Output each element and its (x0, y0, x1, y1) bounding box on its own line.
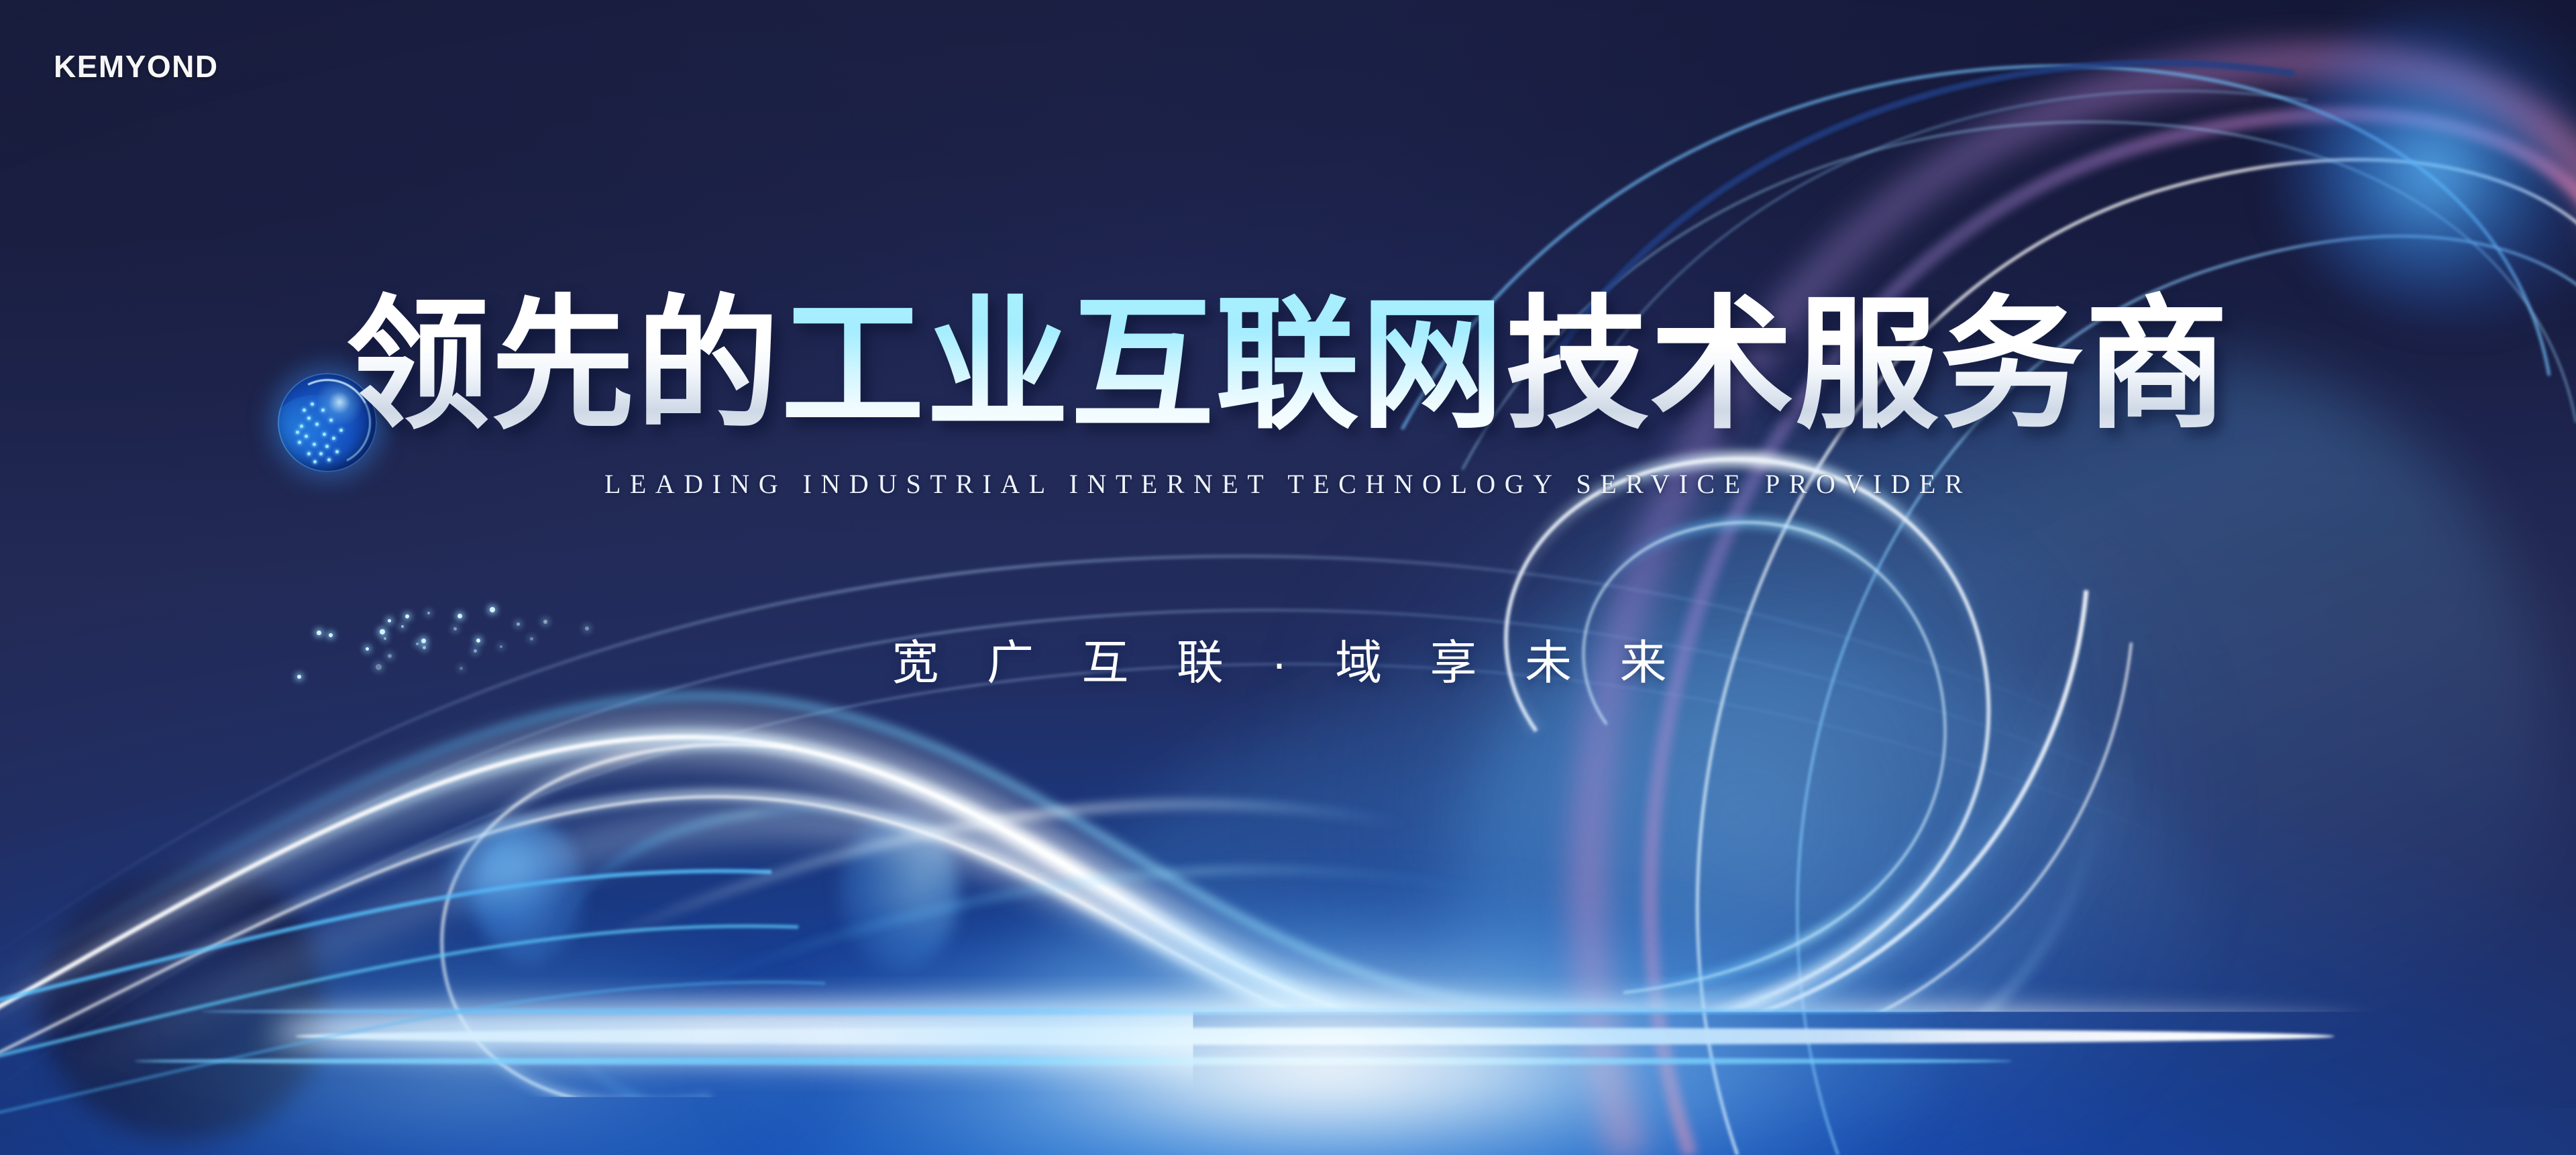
decor-light-ribbons (0, 0, 2576, 1155)
tagline: 宽 广 互 联 · 域 享 未 来 (0, 625, 2576, 693)
headline-segment-trailing: 技术服务商 (1505, 285, 2230, 445)
headline-segment-leading: 领先的 (346, 285, 781, 445)
subtitle-english: LEADING INDUSTRIAL INTERNET TECHNOLOGY S… (0, 468, 2576, 500)
headline-segment-highlight: 工业互联网 (781, 285, 1505, 445)
page-title: 领先的工业互联网技术服务商 (0, 294, 2576, 437)
promo-banner: KEMYOND 领先的工业互联网技术服务商 LEADING INDUSTRIAL… (0, 0, 2576, 1155)
brand-logo[interactable]: KEMYOND (54, 48, 219, 85)
